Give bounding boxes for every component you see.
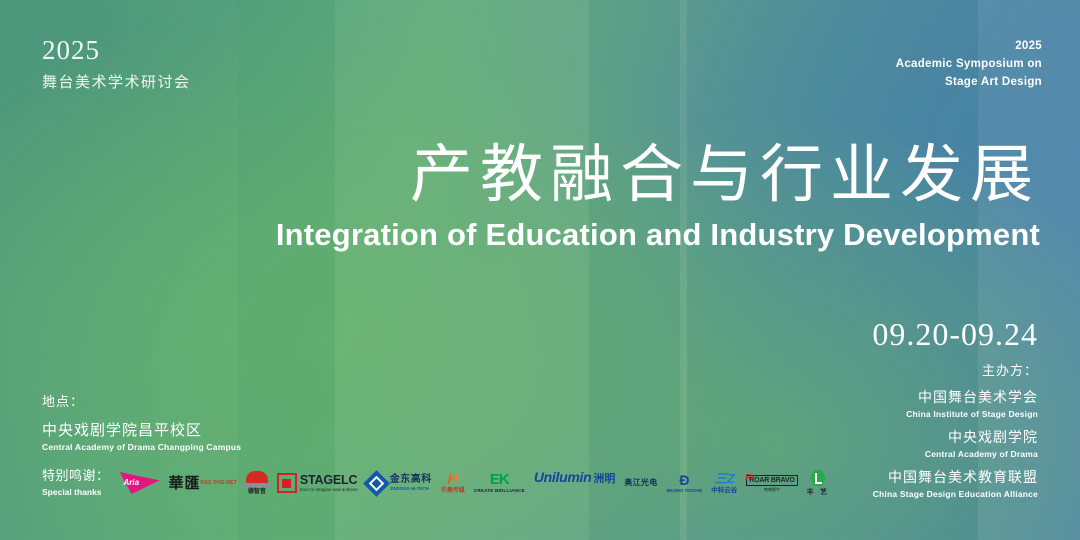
header-right-line2: Stage Art Design <box>896 74 1042 92</box>
poster-content: 2025 舞台美术学术研讨会 2025 Academic Symposium o… <box>0 0 1080 540</box>
special-thanks-label-en: Special thanks <box>42 487 110 498</box>
main-title-block: 产教融合与行业发展 Integration of Education and I… <box>40 140 1040 253</box>
special-thanks-block: 特别鸣谢： Special thanks Aria 華匯 RAC PHD.NET… <box>42 468 829 498</box>
event-date: 09.20-09.24 <box>872 316 1038 353</box>
ek-tagline: CREATE BRILLIANCE <box>474 489 525 494</box>
aria-wordmark: Aria <box>124 478 140 487</box>
sponsor-logo-aria: Aria <box>120 472 160 494</box>
stagelc-bracket-icon <box>277 473 297 493</box>
jindong-wordmark-cn: 金东高科 <box>390 475 432 485</box>
header-left: 2025 舞台美术学术研讨会 <box>42 36 191 92</box>
organizers-block: 主办方： 中国舞台美术学会 China Institute of Stage D… <box>873 360 1038 500</box>
sponsor-logo-beijing-tonghe: Ð BEIJING TONGHE <box>667 469 703 497</box>
fengyi-wordmark-cn: 丰 艺 <box>807 489 829 496</box>
aoji-wordmark-cn: 奥江光电 <box>624 479 657 487</box>
sponsor-logo-row: Aria 華匯 RAC PHD.NET 德智音 STAGELC <box>120 468 830 498</box>
organizer-name-cn: 中国舞台美术学会 <box>873 389 1038 408</box>
special-thanks-label: 特别鸣谢： Special thanks <box>42 469 110 498</box>
stagelc-tagline: born to imagine and achieve <box>300 488 358 492</box>
dezhiyin-wordmark-cn: 德智音 <box>246 489 268 495</box>
tonghe-wordmark-en: BEIJING TONGHE <box>667 489 703 493</box>
organizer-name-en: China Stage Design Education Alliance <box>873 489 1038 500</box>
sponsor-logo-huaao: H 华奥传媒 <box>441 469 465 497</box>
dezhiyin-mark-icon <box>246 471 268 484</box>
zhongke-mark-icon: 三Z <box>711 472 737 485</box>
venue-label: 地点： <box>42 391 241 410</box>
poster-canvas: 2025 舞台美术学术研讨会 2025 Academic Symposium o… <box>0 0 1080 540</box>
jindong-wordmark-en: JINDONG HI-TECH <box>390 487 432 491</box>
sponsor-logo-aojiguangdian: 奥江光电 <box>624 469 657 497</box>
sponsor-logo-jindong: 金东高科 JINDONG HI-TECH <box>367 469 432 497</box>
header-left-subtitle: 舞台美术学术研讨会 <box>42 71 191 92</box>
organizer-name-en: Central Academy of Drama <box>873 449 1038 460</box>
venue-name-en: Central Academy of Drama Changping Campu… <box>42 442 241 452</box>
huahui-wordmark-en: RAC PHD.NET <box>201 481 237 486</box>
huaao-mark-icon: H <box>441 472 465 487</box>
tonghe-mark-icon: Ð <box>667 473 703 487</box>
header-left-year: 2025 <box>42 36 191 64</box>
main-title-en: Integration of Education and Industry De… <box>40 217 1040 253</box>
header-right-line1: Academic Symposium on <box>896 56 1042 74</box>
fengyi-hexagon-icon <box>810 470 826 486</box>
roarbravo-wordmark-cn: 咆哮野牛 <box>746 488 797 492</box>
main-title-cn: 产教融合与行业发展 <box>40 140 1040 211</box>
special-thanks-label-cn: 特别鸣谢： <box>42 469 110 485</box>
sponsor-logo-ek: EK CREATE BRILLIANCE <box>474 469 525 497</box>
sponsor-logo-unilumin: Unilumin 洲明 <box>534 469 615 497</box>
organizer-name-cn: 中央戏剧学院 <box>873 429 1038 448</box>
header-right: 2025 Academic Symposium on Stage Art Des… <box>896 38 1042 91</box>
organizer-item: 中央戏剧学院 Central Academy of Drama <box>873 429 1038 460</box>
roarbravo-script-overlay: Rr <box>745 474 754 482</box>
ek-wordmark: EK <box>474 472 525 487</box>
jindong-diamond-icon <box>363 470 390 497</box>
organizer-item: 中国舞台美术学会 China Institute of Stage Design <box>873 389 1038 420</box>
organizer-name-en: China Institute of Stage Design <box>873 409 1038 420</box>
zhongke-wordmark-cn: 中科云谷 <box>711 487 737 494</box>
sponsor-logo-dezhiyin: 德智音 <box>246 469 268 497</box>
unilumin-wordmark-cn: 洲明 <box>593 470 615 486</box>
huaao-wordmark-cn: 华奥传媒 <box>441 488 465 494</box>
sponsor-logo-huahui: 華匯 RAC PHD.NET <box>169 469 237 497</box>
unilumin-wordmark: Unilumin <box>534 469 591 485</box>
sponsor-logo-stagelc: STAGELC born to imagine and achieve <box>277 469 358 497</box>
venue-block: 地点： 中央戏剧学院昌平校区 Central Academy of Drama … <box>42 391 241 452</box>
huahui-wordmark-cn: 華匯 <box>169 476 201 491</box>
header-right-year: 2025 <box>896 38 1042 56</box>
sponsor-logo-zhongke-yunngu: 三Z 中科云谷 <box>711 469 737 497</box>
organizers-label: 主办方： <box>873 360 1038 379</box>
venue-name-cn: 中央戏剧学院昌平校区 <box>42 419 241 440</box>
organizer-name-cn: 中国舞台美术教育联盟 <box>873 469 1038 488</box>
stagelc-wordmark: STAGELC <box>300 474 358 487</box>
sponsor-logo-roar-bravo: ROAR BRAVO 咆哮野牛 Rr <box>746 469 797 497</box>
sponsor-logo-fengyi: 丰 艺 <box>807 469 829 497</box>
organizer-item: 中国舞台美术教育联盟 China Stage Design Education … <box>873 469 1038 500</box>
